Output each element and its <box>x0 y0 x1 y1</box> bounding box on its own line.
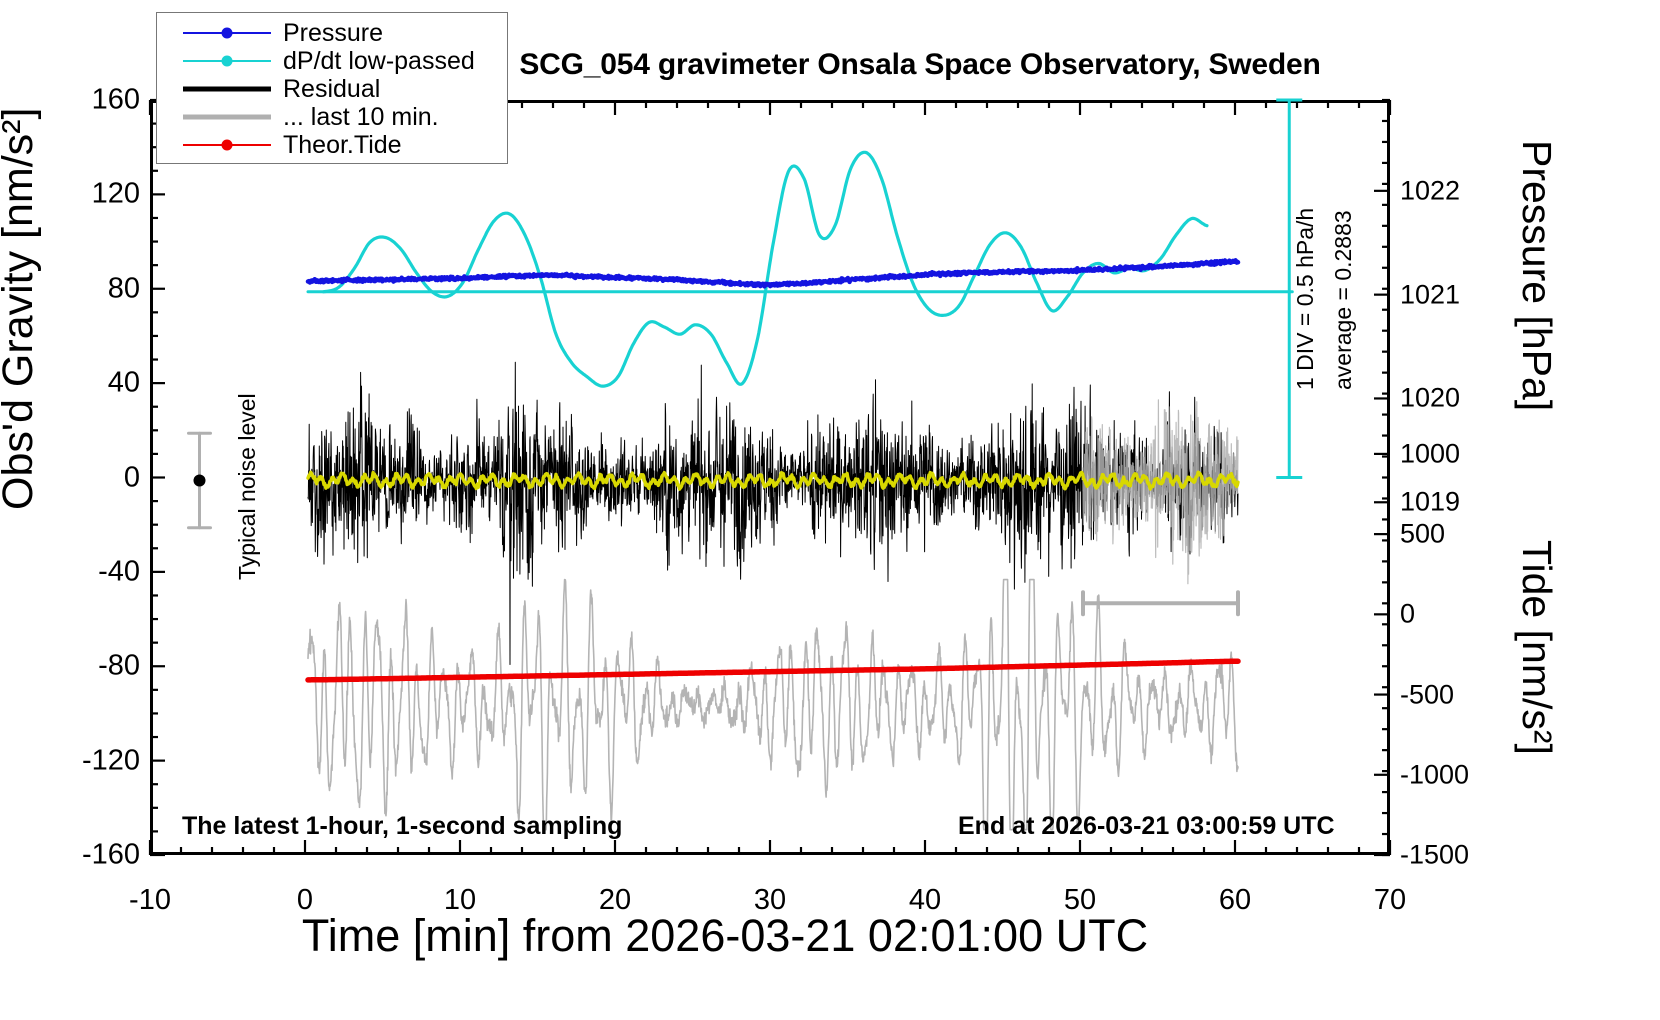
y-axis-tide-labels: 10005000-500-1000-1500 <box>1400 0 1530 1020</box>
y-axis-tide-title: Tide [nm/s²] <box>1513 540 1560 755</box>
legend-label: ... last 10 min. <box>283 103 439 132</box>
y-tick-label: 40 <box>108 367 140 400</box>
legend-label: Theor.Tide <box>283 131 402 160</box>
y-tick-label: -120 <box>82 744 140 777</box>
y-axis-pressure-title: Pressure [hPa] <box>1513 140 1560 411</box>
y-tick-label: -40 <box>98 555 140 588</box>
y-axis-left-labels: 16012080400-40-80-120-160 <box>40 0 140 1020</box>
legend-label: dP/dt low-passed <box>283 47 475 76</box>
div-scale-label: 1 DIV = 0.5 hPa/h <box>1292 208 1319 390</box>
footer-right-note: End at 2026-03-21 03:00:59 UTC <box>958 812 1335 841</box>
legend[interactable]: PressuredP/dt low-passedResidual... last… <box>156 12 508 164</box>
x-axis-title: Time [min] from 2026-03-21 02:01:00 UTC <box>0 910 1450 962</box>
page-title: SCG_054 gravimeter Onsala Space Observat… <box>440 48 1400 82</box>
tide-tick-label: -500 <box>1400 679 1454 710</box>
legend-item-4[interactable]: Theor.Tide <box>157 131 507 159</box>
plot-area[interactable] <box>150 100 1390 855</box>
y-tick-label: 80 <box>108 272 140 305</box>
y-tick-label: -160 <box>82 839 140 872</box>
legend-swatch-icon <box>183 135 271 155</box>
legend-item-0[interactable]: Pressure <box>157 19 507 47</box>
average-label: average = 0.2883 <box>1330 210 1357 390</box>
tide-tick-label: 500 <box>1400 519 1445 550</box>
y-tick-label: 120 <box>92 178 140 211</box>
legend-swatch-icon <box>183 23 271 43</box>
legend-label: Pressure <box>283 19 383 48</box>
chart-traces <box>153 103 1387 852</box>
legend-item-2[interactable]: Residual <box>157 75 507 103</box>
y-tick-label: -80 <box>98 650 140 683</box>
legend-item-1[interactable]: dP/dt low-passed <box>157 47 507 75</box>
tide-tick-label: -1000 <box>1400 759 1469 790</box>
tide-tick-label: 0 <box>1400 599 1415 630</box>
y-tick-label: 160 <box>92 84 140 117</box>
y-axis-left-title: Obs'd Gravity [nm/s²] <box>0 108 43 510</box>
tide-tick-label: -1500 <box>1400 840 1469 871</box>
legend-swatch-icon <box>183 51 271 71</box>
footer-left-note: The latest 1-hour, 1-second sampling <box>182 812 622 841</box>
typical-noise-level-label: Typical noise level <box>234 393 261 580</box>
legend-swatch-icon <box>183 79 271 99</box>
legend-label: Residual <box>283 75 380 104</box>
legend-swatch-icon <box>183 107 271 127</box>
tide-tick-label: 1000 <box>1400 438 1460 469</box>
plot-canvas <box>153 103 1387 852</box>
legend-item-3[interactable]: ... last 10 min. <box>157 103 507 131</box>
y-tick-label: 0 <box>124 461 140 494</box>
